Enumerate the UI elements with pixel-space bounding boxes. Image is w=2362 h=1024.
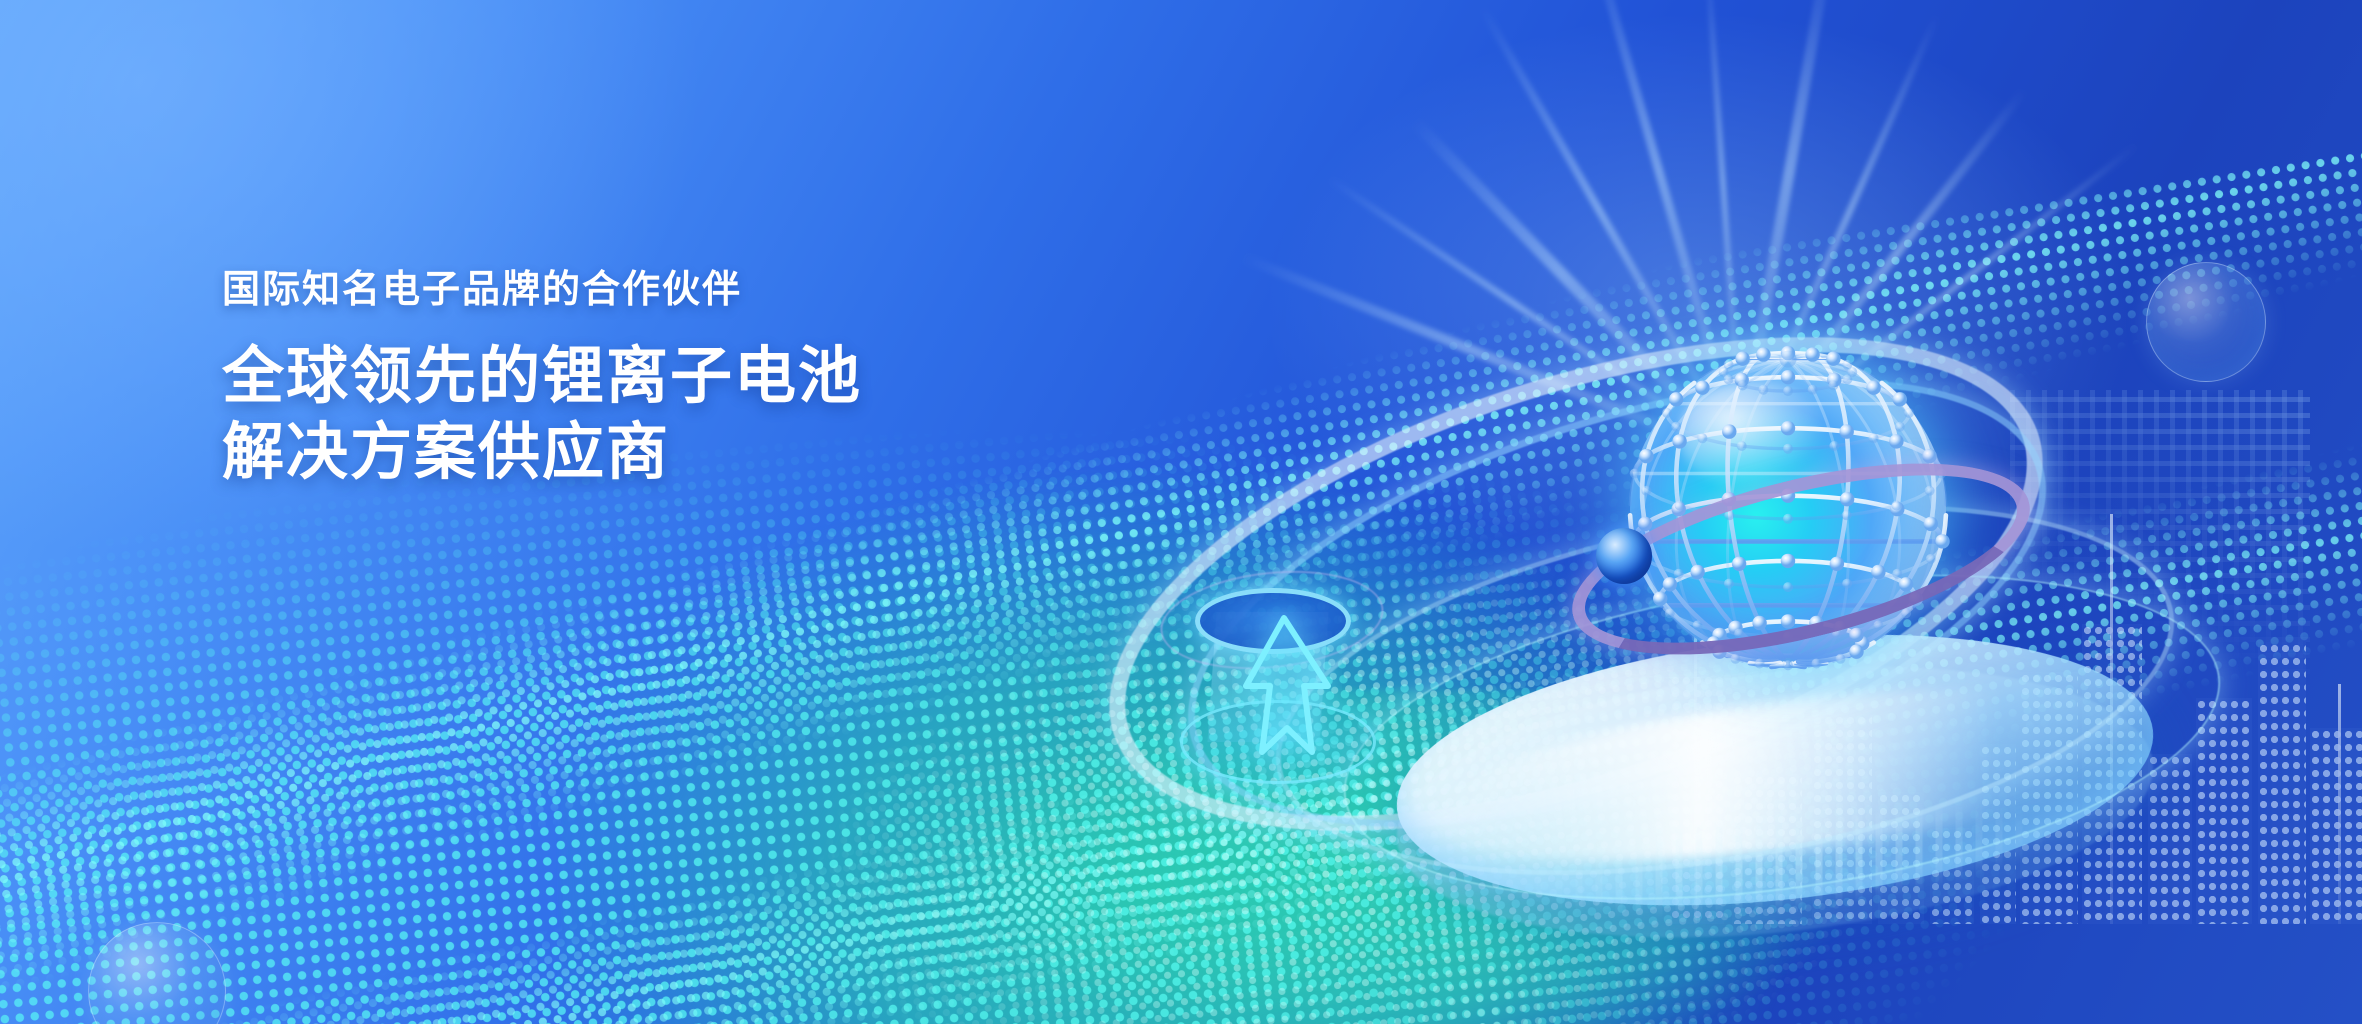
globe-node [1669, 392, 1683, 406]
hero-banner: 国际知名电子品牌的合作伙伴 全球领先的锂离子电池 解决方案供应商 [0, 0, 2362, 1024]
globe-node [1783, 444, 1793, 454]
skyline-building [2196, 698, 2252, 924]
floating-bubble-upper-right [2146, 262, 2266, 382]
globe-node [1901, 608, 1911, 618]
globe-node [1828, 381, 1838, 391]
globe-node [1783, 660, 1793, 670]
skyline-building [2148, 754, 2192, 924]
globe-node [1811, 659, 1821, 669]
globe-node [1869, 433, 1879, 443]
globe-node [1662, 408, 1672, 418]
orbital-band-sphere-node [1596, 528, 1652, 584]
globe-node [1737, 441, 1747, 451]
globe-node [1893, 392, 1907, 406]
globe-node [1671, 422, 1681, 432]
globe-node [1842, 360, 1852, 370]
globe-node [1735, 352, 1749, 366]
globe-node [1842, 374, 1852, 384]
globe-node [1672, 434, 1686, 448]
globe-node [1783, 386, 1793, 396]
globe-node [1781, 370, 1795, 384]
globe-node [1829, 441, 1839, 451]
hero-headline: 全球领先的锂离子电池 解决方案供应商 [222, 339, 1122, 490]
globe-node [1639, 449, 1653, 463]
globe-node [1756, 347, 1770, 361]
globe-node [1904, 408, 1914, 418]
globe-node [1697, 433, 1707, 443]
wireframe-globe [1618, 340, 1958, 680]
globe-node [1826, 352, 1840, 366]
globe-node [1840, 424, 1854, 438]
globe-node [1805, 347, 1819, 361]
globe-node [1738, 381, 1748, 391]
globe-node [1836, 654, 1846, 664]
globe-node [1781, 421, 1795, 435]
globe-node [1722, 424, 1736, 438]
hero-copy-block: 国际知名电子品牌的合作伙伴 全球领先的锂离子电池 解决方案供应商 [222, 258, 1122, 490]
skyline-spire [2338, 684, 2341, 924]
globe-node [1630, 469, 1640, 479]
globe-node [1675, 501, 1685, 511]
globe-node [1724, 374, 1734, 384]
globe-node [1849, 645, 1863, 659]
globe-node [1808, 385, 1818, 395]
globe-node [1873, 620, 1883, 630]
hero-headline-line-1: 全球领先的锂离子电池 [222, 339, 1122, 415]
hero-eyebrow: 国际知名电子品牌的合作伙伴 [222, 258, 1122, 313]
globe-node [1638, 517, 1652, 531]
globe-node [1922, 449, 1936, 463]
globe-node [1695, 381, 1709, 395]
globe-node [1780, 351, 1797, 368]
hero-headline-line-2: 解决方案供应商 [222, 415, 1122, 491]
globe-node [1895, 422, 1905, 432]
globe-node [1641, 486, 1651, 496]
globe-node [1889, 434, 1903, 448]
globe-node [1731, 654, 1741, 664]
skyline-building [2310, 728, 2362, 924]
globe-node [1758, 385, 1768, 395]
globe-node [1866, 381, 1880, 395]
globe-node [1755, 659, 1765, 669]
globe-node [1849, 628, 1863, 642]
upward-growth-arrow-icon [1232, 600, 1342, 770]
